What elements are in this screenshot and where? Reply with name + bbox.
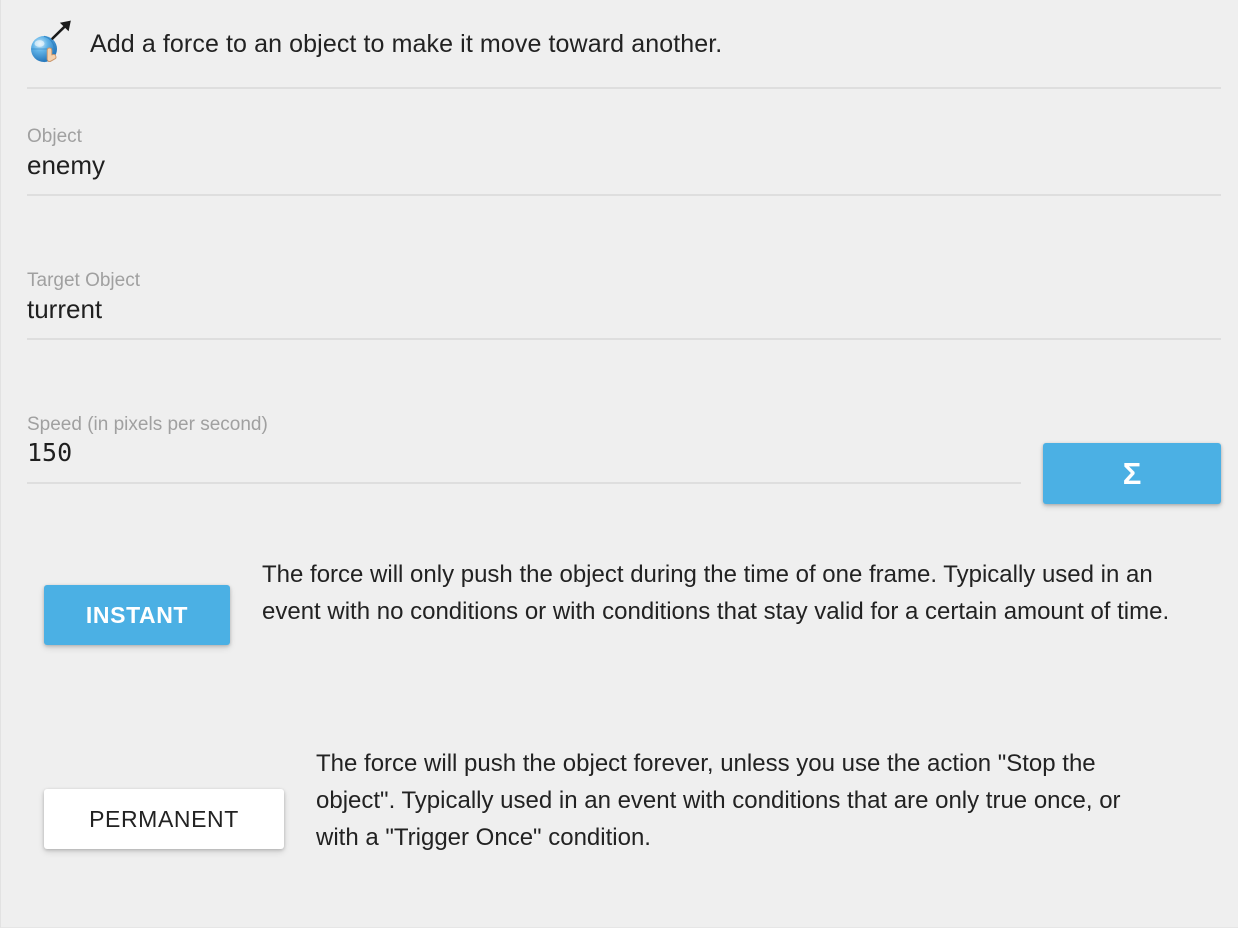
field-target-object: Target Object turrent — [27, 270, 1221, 340]
page-title: Add a force to an object to make it move… — [90, 30, 722, 59]
field-speed-underline — [27, 482, 1021, 484]
header-divider — [27, 87, 1221, 89]
target-object-input[interactable]: turrent — [27, 292, 1221, 326]
instant-description: The force will only push the object duri… — [262, 556, 1202, 630]
instant-button[interactable]: INSTANT — [44, 585, 230, 645]
speed-input[interactable]: 150 — [27, 436, 1021, 470]
field-target-object-label: Target Object — [27, 270, 1221, 292]
field-target-object-underline — [27, 338, 1221, 340]
panel-header: Add a force to an object to make it move… — [1, 0, 1238, 88]
expression-editor-button[interactable]: Σ — [1043, 443, 1221, 504]
mode-row-permanent: PERMANENT The force will push the object… — [1, 745, 1156, 856]
field-object: Object enemy — [27, 126, 1221, 196]
field-object-underline — [27, 194, 1221, 196]
force-toward-object-icon — [27, 19, 73, 65]
field-speed-label: Speed (in pixels per second) — [27, 414, 1021, 436]
action-parameters-panel: Add a force to an object to make it move… — [0, 0, 1238, 928]
field-object-label: Object — [27, 126, 1221, 148]
object-input[interactable]: enemy — [27, 148, 1221, 182]
permanent-button[interactable]: PERMANENT — [44, 789, 284, 849]
mode-row-instant: INSTANT The force will only push the obj… — [1, 556, 1202, 645]
permanent-description: The force will push the object forever, … — [316, 745, 1156, 856]
field-speed: Speed (in pixels per second) 150 — [27, 414, 1021, 484]
